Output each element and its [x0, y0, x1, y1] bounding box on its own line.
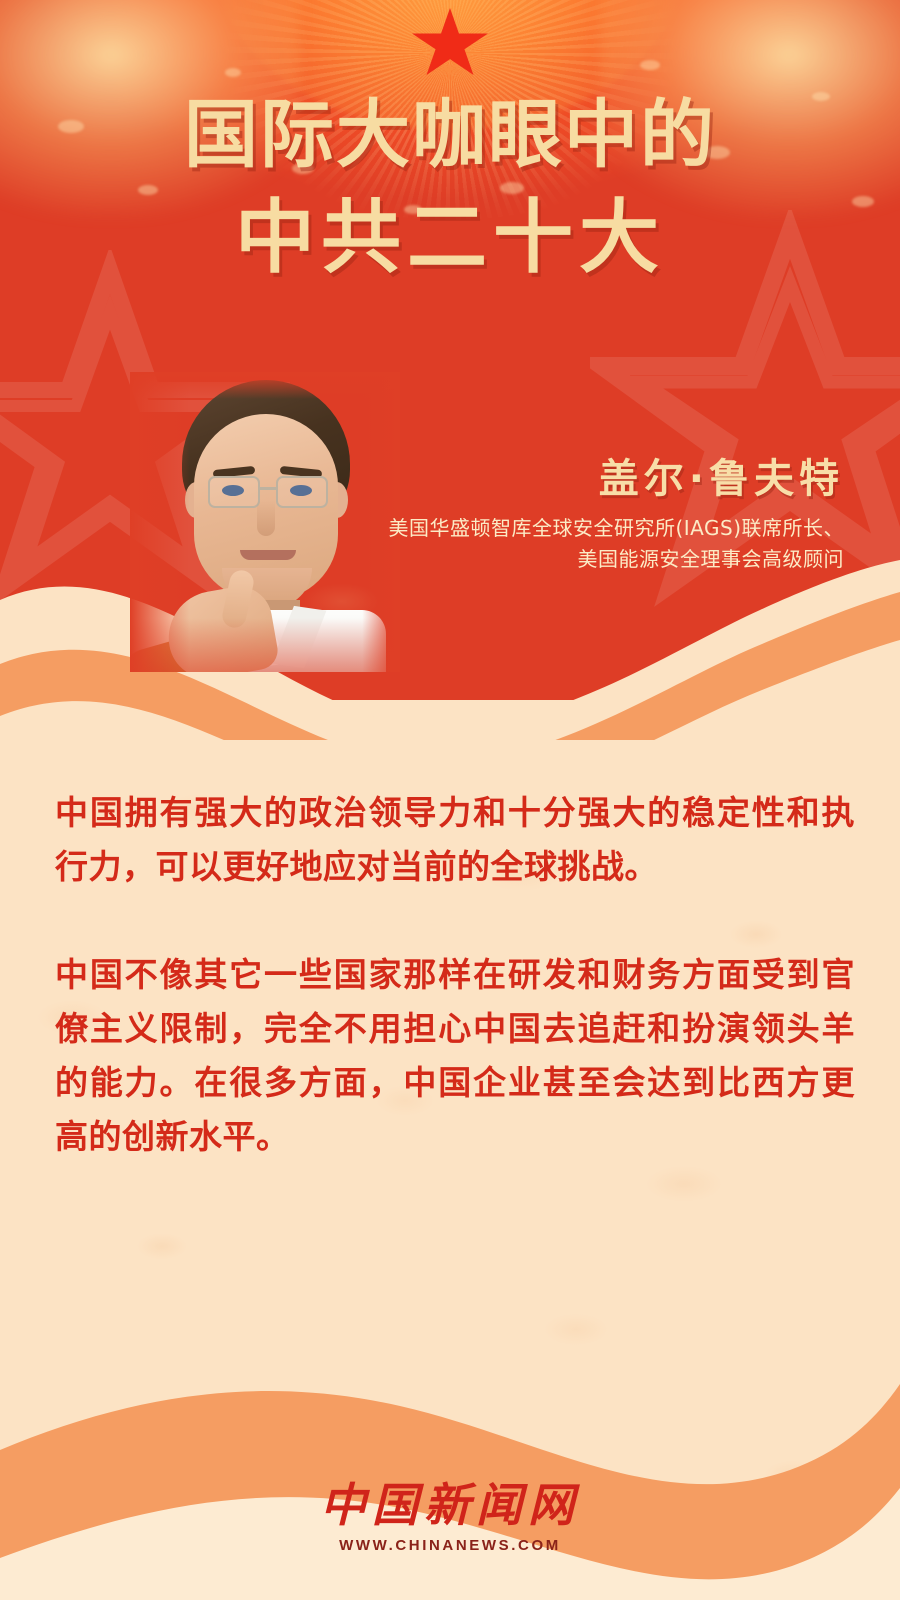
speaker-info: 盖尔·鲁夫特 美国华盛顿智库全球安全研究所(IAGS)联席所长、 美国能源安全理…	[324, 455, 844, 575]
bokeh-dot	[640, 60, 660, 70]
speaker-name: 盖尔·鲁夫特	[324, 455, 844, 503]
quote-block: 中国拥有强大的政治领导力和十分强大的稳定性和执行力，可以更好地应对当前的全球挑战…	[55, 786, 855, 1164]
page-title: 国际大咖眼中的 中共二十大	[0, 92, 900, 284]
chinanews-logo-url: WWW.CHINANEWS.COM	[0, 1536, 900, 1556]
footer-branding: 中国新闻网 WWW.CHINANEWS.COM	[0, 1478, 900, 1556]
wave-divider-bottom	[0, 1320, 900, 1600]
page-title-line1: 国际大咖眼中的	[0, 92, 900, 178]
page-title-line2: 中共二十大	[0, 192, 900, 284]
chinanews-logo-text: 中国新闻网	[0, 1478, 900, 1532]
speaker-role-line2: 美国能源安全理事会高级顾问	[324, 544, 844, 575]
poster-root: 国际大咖眼中的 中共二十大	[0, 0, 900, 1600]
speaker-role: 美国华盛顿智库全球安全研究所(IAGS)联席所长、 美国能源安全理事会高级顾问	[324, 513, 844, 575]
bokeh-dot	[225, 68, 241, 77]
speaker-role-line1: 美国华盛顿智库全球安全研究所(IAGS)联席所长、	[324, 513, 844, 544]
quote-paragraph-2: 中国不像其它一些国家那样在研发和财务方面受到官僚主义限制，完全不用担心中国去追赶…	[55, 948, 855, 1164]
quote-paragraph-1: 中国拥有强大的政治领导力和十分强大的稳定性和执行力，可以更好地应对当前的全球挑战…	[55, 786, 855, 894]
